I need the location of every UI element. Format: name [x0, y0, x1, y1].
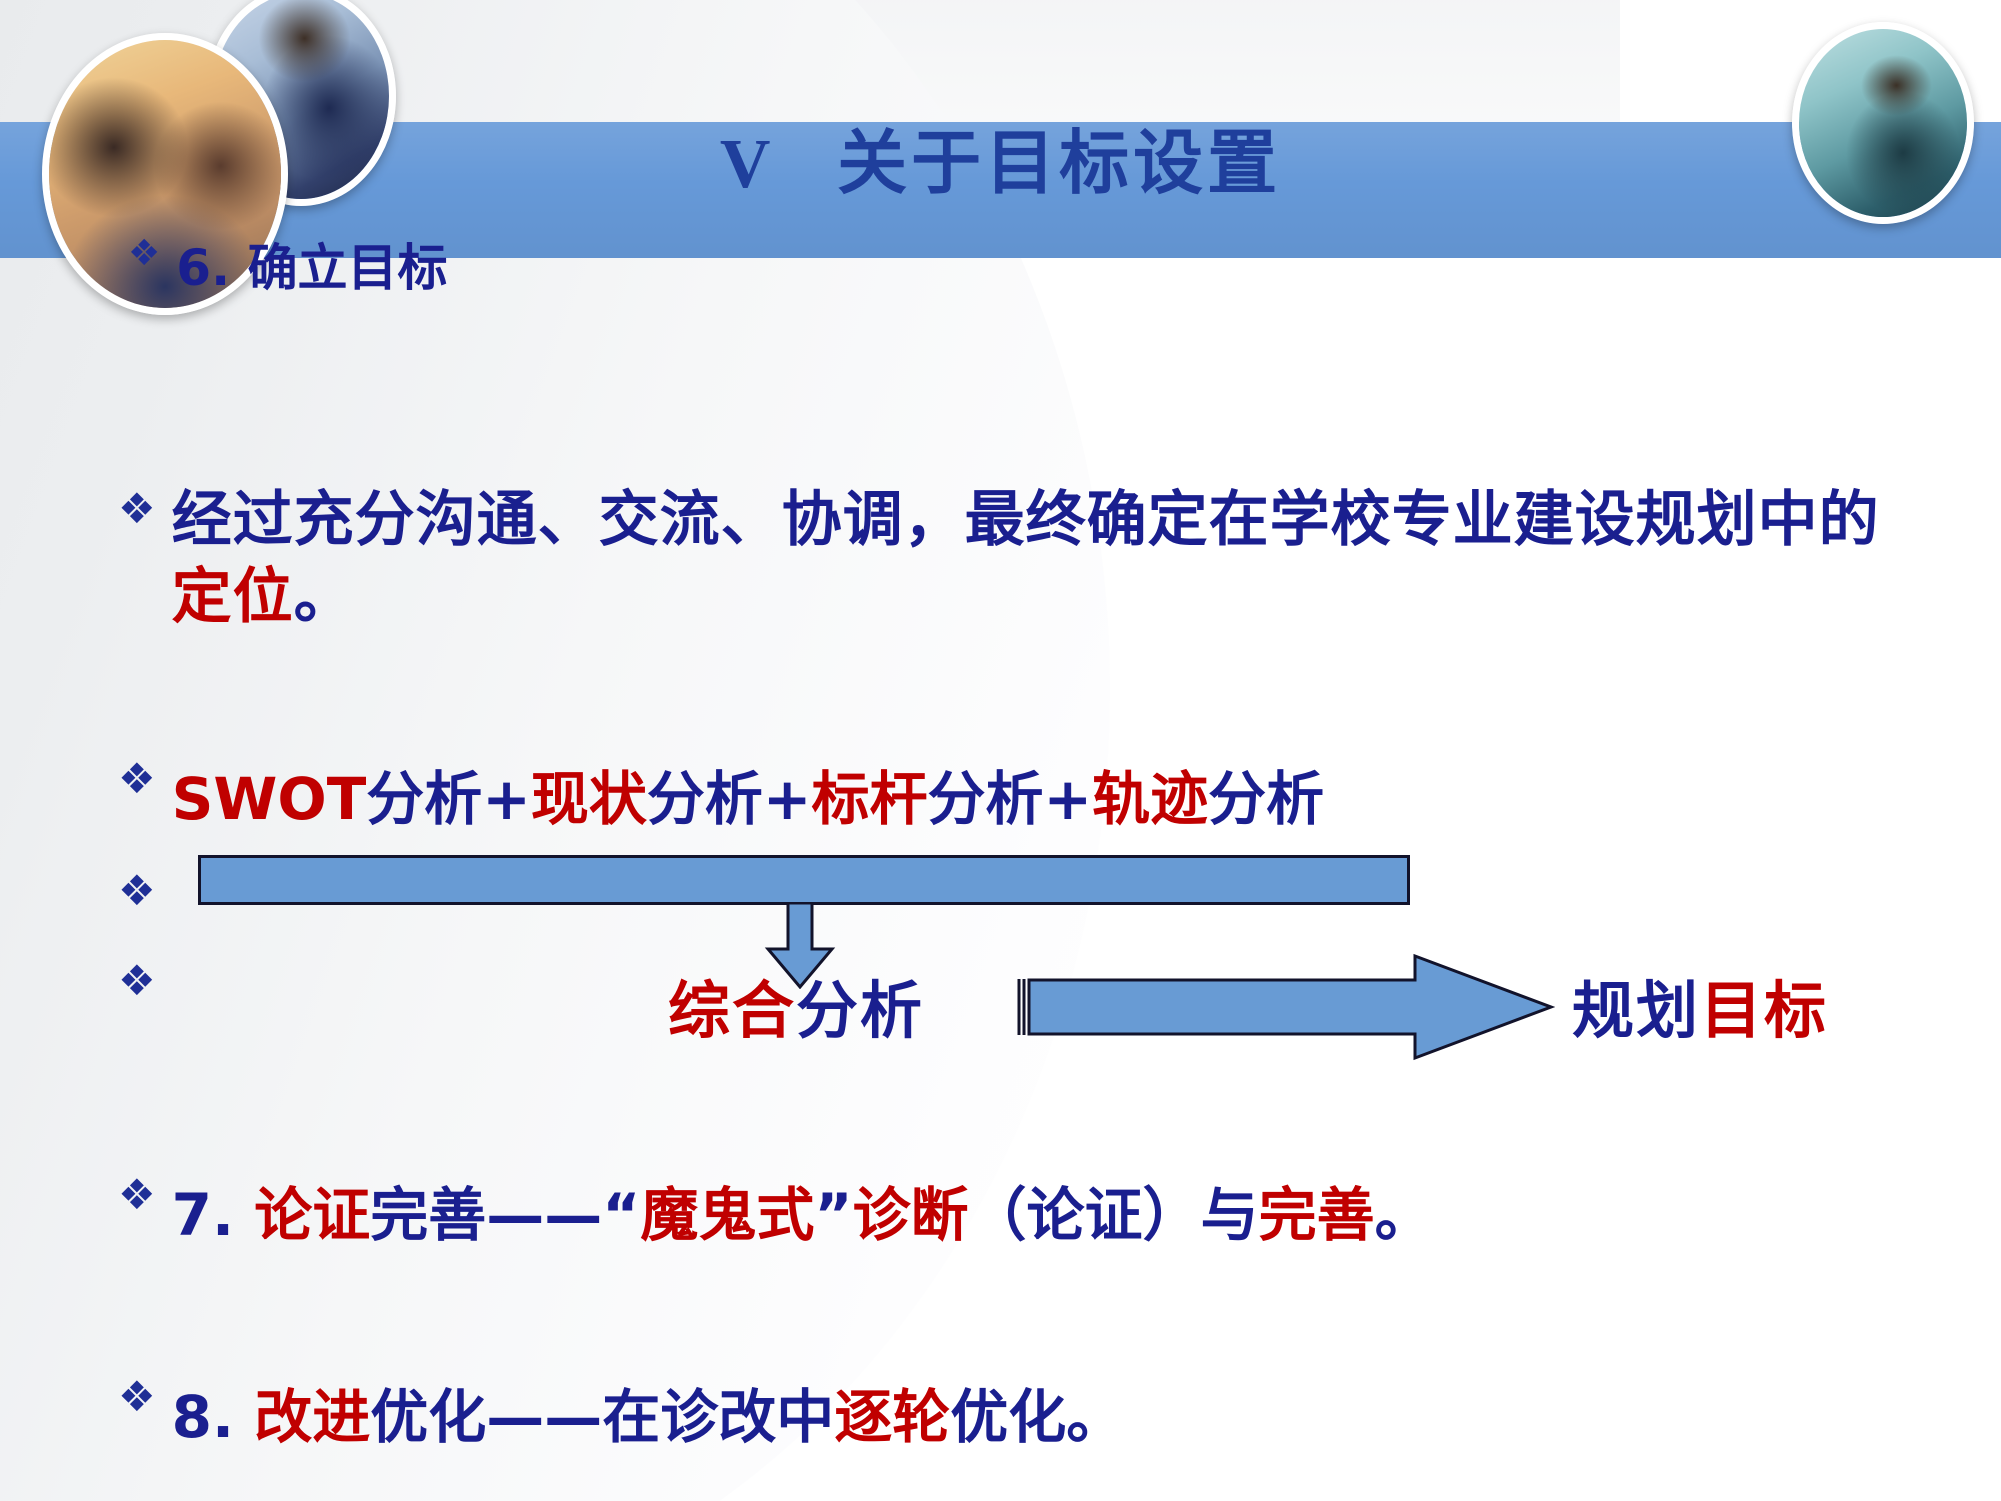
list-item-8: ❖ 8. 改进优化——在诊改中逐轮优化。	[118, 1370, 1124, 1454]
swot-analysis-plus-3: 分析+	[928, 765, 1093, 833]
item8-red-1: 改进	[254, 1383, 370, 1451]
combined-analysis-label-red: 综合	[668, 974, 796, 1047]
swot-label: SWOT	[172, 765, 367, 833]
swot-analysis-plus-1: 分析+	[366, 765, 531, 833]
item7-blue-4: 。	[1375, 1181, 1433, 1249]
list-item-7: ❖ 7. 论证完善——“魔鬼式”诊断（论证）与完善。	[118, 1168, 1433, 1252]
planning-goal-label-red: 目标	[1700, 974, 1828, 1047]
paragraph-highlight-position: 定位	[172, 562, 294, 632]
list-item-arrow-row: ❖	[118, 960, 172, 1002]
list-item-swot: ❖ SWOT分析+现状分析+标杆分析+轨迹分析	[118, 752, 1324, 836]
item8-red-2: 逐轮	[834, 1383, 950, 1451]
diamond-bullet-icon: ❖	[118, 758, 156, 800]
list-item-paragraph: ❖ 经过充分沟通、交流、协调，最终确定在学校专业建设规划中的定位。	[118, 482, 1938, 636]
diamond-bullet-icon: ❖	[118, 870, 156, 912]
combined-analysis-label: 综合分析	[668, 960, 924, 1050]
list-item-6-label: 6. 确立目标	[176, 228, 447, 300]
current-status-label: 现状	[531, 765, 647, 833]
paragraph-segment-1: 经过充分沟通、交流、协调，最终确定在学校专业建设规划中的	[172, 485, 1880, 555]
diamond-bullet-icon: ❖	[128, 236, 160, 272]
slide-canvas: V 关于目标设置 ❖ 6. 确立目标 ❖ 经过充分沟通、交流、协调，最终确定在学…	[0, 0, 2001, 1501]
item8-blue-2: 优化。	[950, 1383, 1124, 1451]
planning-goal-label-blue: 规划	[1572, 974, 1700, 1047]
item7-red-2: 魔鬼式	[640, 1181, 814, 1249]
diamond-bullet-icon: ❖	[118, 960, 156, 1002]
right-arrow-icon	[1015, 952, 1555, 1062]
item7-blue-1: 完善——“	[370, 1181, 640, 1249]
item7-red-3: 诊断	[853, 1181, 969, 1249]
item8-number: 8.	[172, 1383, 255, 1451]
trajectory-label: 轨迹	[1092, 765, 1208, 833]
slide-content: ❖ 6. 确立目标 ❖ 经过充分沟通、交流、协调，最终确定在学校专业建设规划中的…	[0, 0, 2001, 1501]
diamond-bullet-icon: ❖	[118, 1376, 156, 1418]
item8-blue-1: 优化——在诊改中	[370, 1383, 834, 1451]
paragraph-segment-3: 。	[294, 562, 355, 632]
list-item-bar-row: ❖	[118, 870, 172, 912]
list-item-6: ❖ 6. 确立目标	[128, 228, 447, 300]
planning-goal-label: 规划目标	[1572, 960, 1828, 1050]
collector-bar-shape	[198, 855, 1410, 905]
swot-analysis-plus-2: 分析+	[647, 765, 812, 833]
combined-analysis-label-blue: 分析	[796, 974, 924, 1047]
diamond-bullet-icon: ❖	[118, 1174, 156, 1216]
item7-blue-3: （论证）与	[969, 1181, 1259, 1249]
diamond-bullet-icon: ❖	[118, 488, 156, 530]
item7-blue-2: ”	[814, 1181, 852, 1249]
benchmark-label: 标杆	[812, 765, 928, 833]
item7-number: 7.	[172, 1181, 255, 1249]
item7-red-1: 论证	[254, 1181, 370, 1249]
item7-red-4: 完善	[1259, 1181, 1375, 1249]
swot-analysis-end: 分析	[1208, 765, 1324, 833]
